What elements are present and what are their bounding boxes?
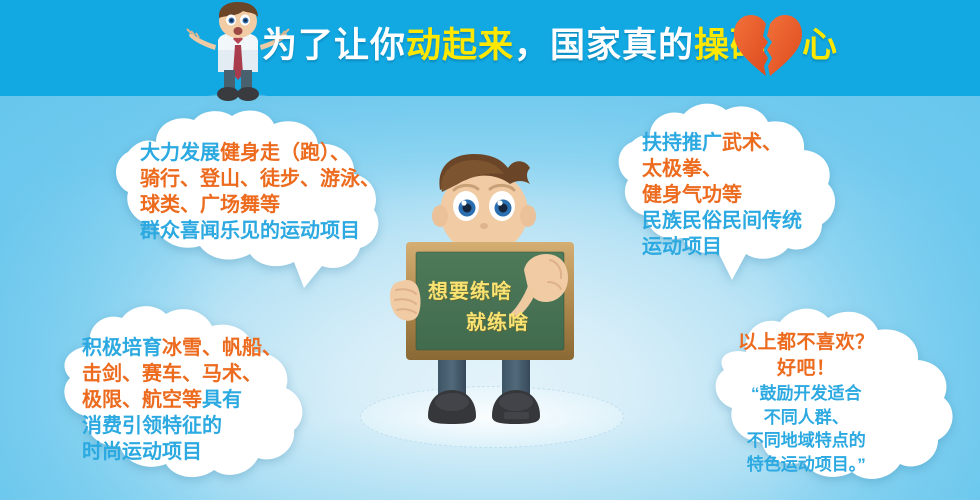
text-orange: 极限、航空等 bbox=[82, 389, 202, 411]
bubble-bottom-left-text: 积极培育冰雪、帆船、 击剑、赛车、马术、 极限、航空等具有 消费引领特征的 时尚… bbox=[82, 335, 282, 465]
text-orange: 健身走（跑）、 bbox=[220, 142, 350, 164]
bubble-line: 不同人群、 bbox=[738, 406, 875, 429]
bubble-line-handwritten: 好吧！ bbox=[738, 356, 875, 382]
title-highlight-1: 动起来 bbox=[406, 17, 514, 68]
bubble-line: 群众喜闻乐见的运动项目 bbox=[140, 218, 380, 244]
chalkboard-line-2: 就练啥 bbox=[466, 306, 529, 335]
broken-heart-icon bbox=[732, 12, 802, 78]
bubble-top-left-text: 大力发展健身走（跑）、 骑行、登山、徒步、游泳、 球类、广场舞等 群众喜闻乐见的… bbox=[140, 140, 380, 244]
bubble-line: 消费引领特征的 bbox=[82, 413, 282, 439]
text-blue: 具有 bbox=[202, 389, 242, 411]
bubble-line: 极限、航空等具有 bbox=[82, 387, 282, 413]
bubble-line: 太极拳、 bbox=[642, 156, 802, 182]
bubble-line: 扶持推广武术、 bbox=[642, 130, 802, 156]
bubble-line: 时尚运动项目 bbox=[82, 439, 282, 465]
bubble-line: 积极培育冰雪、帆船、 bbox=[82, 335, 282, 361]
text-blue: 积极培育 bbox=[82, 337, 162, 359]
bubble-line-handwritten: 以上都不喜欢？ bbox=[738, 330, 875, 356]
bubble-line: 不同地域特点的 bbox=[738, 429, 875, 452]
bubble-line: 健身气功等 bbox=[642, 182, 802, 208]
text-blue: 扶持推广 bbox=[642, 132, 722, 154]
infographic-poster: 为了让你 动起来 ，国家真的 操碎了心 大力发展健身走（跑）、 骑行、登山、徒步… bbox=[0, 0, 980, 500]
text-orange: 武术、 bbox=[722, 132, 782, 154]
bubble-bottom-right-text: 以上都不喜欢？ 好吧！ “鼓励开发适合 不同人群、 不同地域特点的 特色运动项目… bbox=[738, 330, 875, 476]
bubble-line: 大力发展健身走（跑）、 bbox=[140, 140, 380, 166]
text-blue: 大力发展 bbox=[140, 142, 220, 164]
title-segment-1: 为了让你 bbox=[262, 17, 406, 68]
text-orange: 冰雪、帆船、 bbox=[162, 337, 282, 359]
bubble-line: 运动项目 bbox=[642, 234, 802, 260]
bubble-line: 特色运动项目。” bbox=[738, 453, 875, 476]
bubble-line: “鼓励开发适合 bbox=[738, 382, 875, 405]
chalkboard-line-1: 想要练啥 bbox=[428, 275, 512, 304]
bubble-line: 球类、广场舞等 bbox=[140, 192, 380, 218]
bubble-line: 民族民俗民间传统 bbox=[642, 208, 802, 234]
bubble-top-right-text: 扶持推广武术、 太极拳、 健身气功等 民族民俗民间传统 运动项目 bbox=[642, 130, 802, 260]
bubble-line: 击剑、赛车、马术、 bbox=[82, 361, 282, 387]
bubble-line: 骑行、登山、徒步、游泳、 bbox=[140, 166, 380, 192]
title-segment-2: ，国家真的 bbox=[514, 17, 694, 68]
